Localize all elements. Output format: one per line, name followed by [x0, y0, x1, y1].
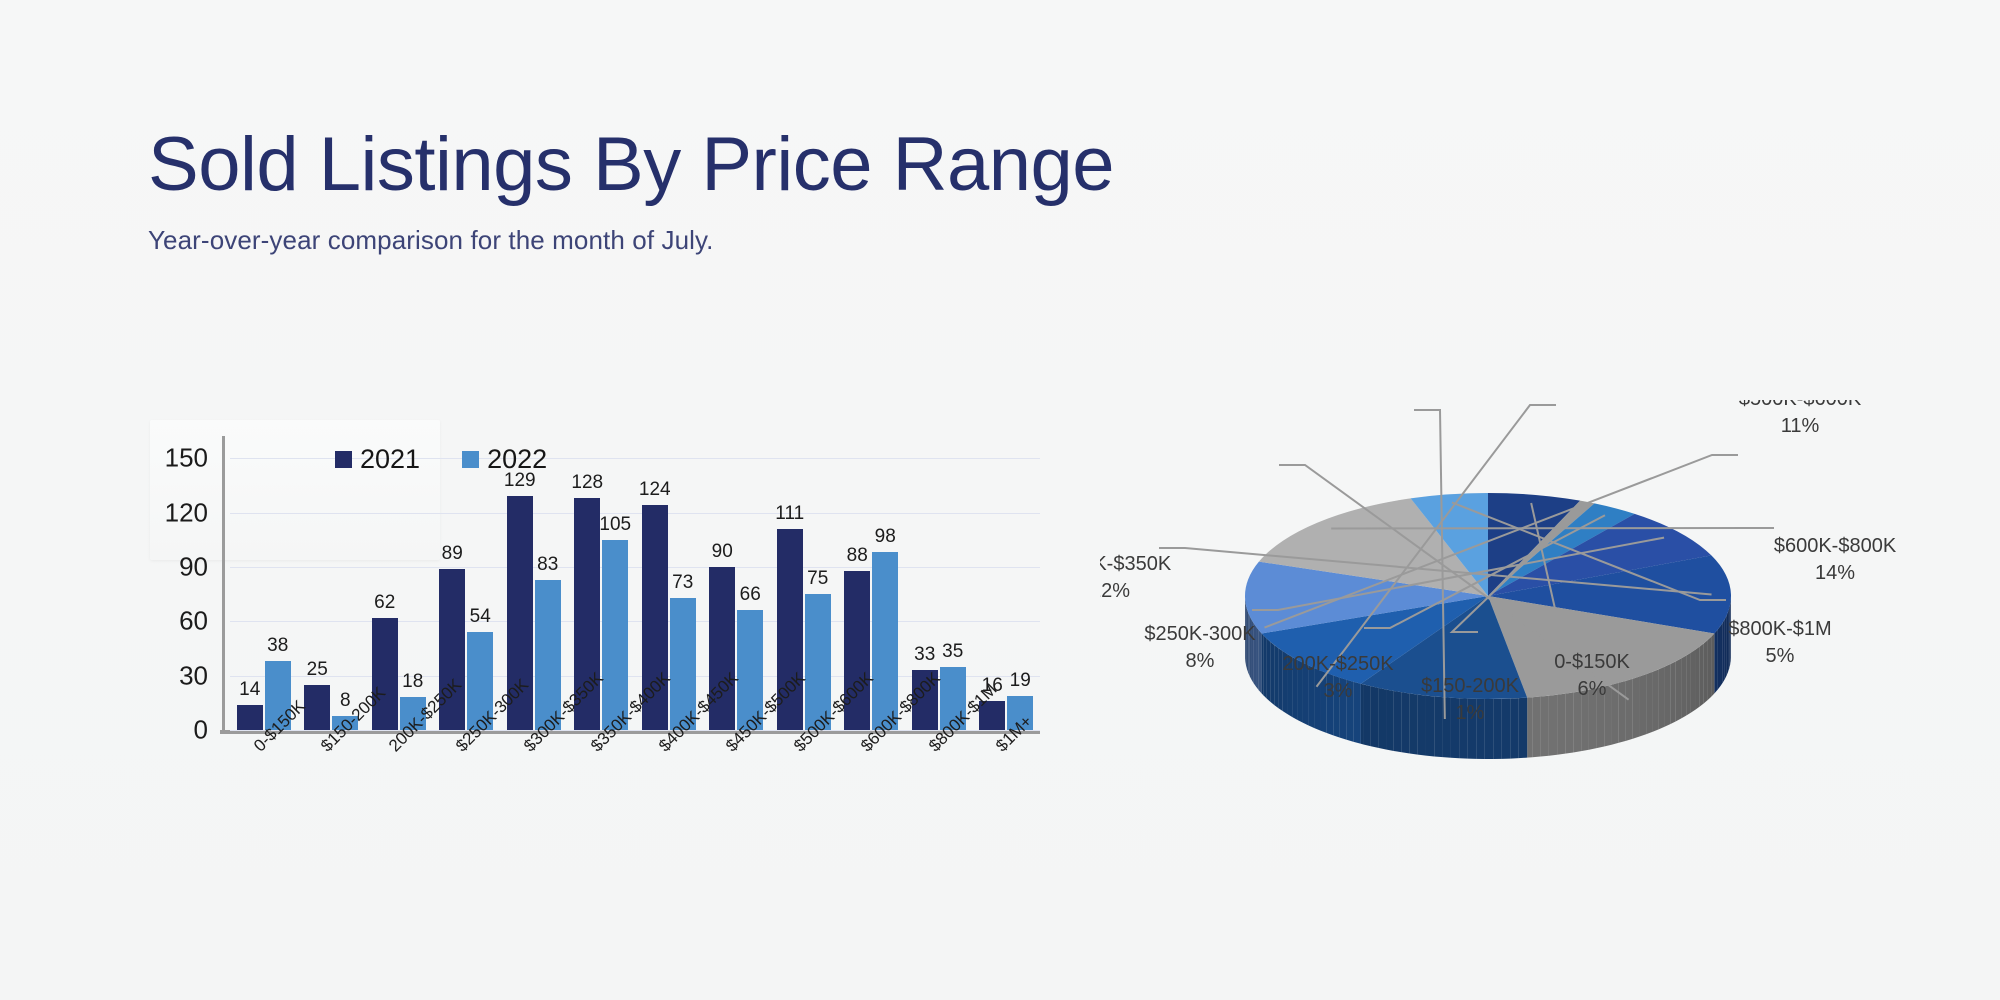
pie-slice-side	[1619, 681, 1626, 743]
bar-rect-2021[interactable]	[372, 618, 398, 730]
pie-slice-side	[1267, 638, 1271, 701]
x-axis-category: $600K-$800K	[838, 738, 906, 858]
pie-slice-side	[1418, 695, 1426, 756]
y-axis-tick-label: 120	[165, 497, 208, 528]
pie-slice-side	[1394, 691, 1402, 752]
bar-chart-legend: 2021 2022	[335, 444, 547, 475]
x-axis-category: 200K-$250K	[365, 738, 433, 858]
bar-value-label: 66	[740, 584, 761, 606]
pie-slice-side	[1695, 647, 1699, 710]
x-axis-category: $400K-$450K	[635, 738, 703, 858]
pie-slice-side	[1256, 627, 1259, 690]
pie-label-name: $250K-300K	[1144, 623, 1256, 645]
pie-slice-side	[1314, 668, 1320, 731]
legend-label-2021: 2021	[360, 444, 420, 475]
pie-slice-side	[1573, 691, 1581, 752]
y-axis-line	[222, 436, 225, 734]
pie-label-name: 200K-$250K	[1282, 653, 1394, 675]
pie-slice-side	[1402, 692, 1410, 753]
bar-group: 258	[298, 440, 366, 730]
pie-slice-side	[1386, 689, 1394, 750]
legend-swatch-square-2022	[462, 451, 479, 468]
x-axis-category: 0-$150K	[230, 738, 298, 858]
bar-2022[interactable]: 54	[467, 440, 493, 730]
bar-2022[interactable]: 105	[602, 440, 628, 730]
bar-2022[interactable]: 98	[872, 440, 898, 730]
pie-slice-side	[1700, 643, 1704, 706]
pie-slice-side	[1274, 645, 1278, 708]
pie-slice-side	[1633, 677, 1640, 739]
pie-label-percent: 1%	[1456, 702, 1485, 724]
y-axis-tick-label: 90	[179, 551, 208, 582]
pie-label-percent: 5%	[1766, 645, 1795, 667]
pie-slice-side	[1259, 630, 1262, 693]
pie-label-percent: 6%	[1578, 678, 1607, 700]
pie-slice-side	[1527, 697, 1532, 757]
pie-chart: $350K-$400K16%$400K-$450K11%$450K-$500K1…	[1100, 400, 1900, 840]
pie-slice-side	[1510, 698, 1518, 758]
pie-slice-side	[1354, 682, 1361, 744]
legend-swatch-square-2021	[335, 451, 352, 468]
pie-label-name: $300K-$350K	[1100, 553, 1172, 575]
pie-slice-side	[1659, 667, 1665, 730]
bar-2022[interactable]: 66	[737, 440, 763, 730]
y-axis-tick-label: 150	[165, 443, 208, 474]
pie-label-percent: 12%	[1100, 580, 1130, 602]
pie-slice-side	[1704, 640, 1708, 703]
page-subtitle: Year-over-year comparison for the month …	[148, 224, 1548, 256]
page-root: Sold Listings By Price Range Year-over-y…	[0, 0, 2000, 1000]
pie-chart-svg: $350K-$400K16%$400K-$450K11%$450K-$500K1…	[1100, 400, 1900, 840]
page-title: Sold Listings By Price Range	[148, 122, 1548, 208]
bar-2022[interactable]: 19	[1007, 440, 1033, 730]
bar-value-label: 54	[470, 606, 491, 628]
pie-slice-side	[1549, 695, 1557, 756]
pie-label-name: $500K-$600K	[1739, 400, 1862, 410]
bar-chart: 2021 2022 0306090120150 1438258621889541…	[150, 420, 1070, 840]
bar-value-label: 35	[942, 641, 963, 663]
bar-value-label: 18	[402, 671, 423, 693]
pie-slice-side	[1270, 642, 1274, 705]
pie-slice-side	[1410, 694, 1418, 755]
bar-value-label: 105	[599, 514, 631, 536]
bar-2022[interactable]: 38	[265, 440, 291, 730]
pie-slice-side	[1691, 650, 1696, 713]
pie-slice-side	[1714, 633, 1715, 694]
bar-2022[interactable]: 35	[940, 440, 966, 730]
pie-slice-side	[1723, 619, 1725, 682]
bar-value-label: 89	[442, 543, 463, 565]
header: Sold Listings By Price Range Year-over-y…	[148, 122, 1548, 256]
bar-2022[interactable]: 83	[535, 440, 561, 730]
pie-slice-side	[1725, 615, 1727, 679]
y-axis-tick-label: 0	[194, 715, 208, 746]
pie-label-name: $150-200K	[1421, 675, 1520, 697]
pie-slice-side	[1502, 699, 1510, 759]
x-axis-category: $350K-$400K	[568, 738, 636, 858]
pie-label-percent: 14%	[1815, 562, 1855, 584]
bar-2022[interactable]: 18	[400, 440, 426, 730]
bar-rect-2021[interactable]	[237, 705, 263, 730]
bar-value-label: 111	[775, 503, 804, 525]
pie-slice-side	[1665, 664, 1671, 727]
bar-rect-2022[interactable]	[602, 540, 628, 730]
pie-slice-side	[1361, 684, 1364, 745]
pie-slice-side	[1681, 656, 1686, 719]
pie-label-percent: 8%	[1186, 650, 1215, 672]
pie-slice-side	[1708, 637, 1712, 700]
y-axis-tick-label: 30	[179, 660, 208, 691]
pie-slice-side	[1519, 698, 1527, 759]
bar-value-label: 73	[672, 572, 693, 594]
pie-label-name: $800K-$1M	[1728, 618, 1831, 640]
pie-slice-side	[1640, 674, 1647, 736]
pie-label-percent: 11%	[1781, 415, 1820, 437]
x-axis-category: $150-200K	[298, 738, 366, 858]
pie-slice-side	[1485, 699, 1494, 759]
bar-value-label: 124	[639, 479, 671, 501]
pie-label-name: $600K-$800K	[1774, 535, 1897, 557]
pie-slice-side	[1363, 684, 1370, 746]
pie-slice-side	[1686, 653, 1691, 716]
pie-slice-side	[1711, 633, 1714, 696]
pie-slice-side	[1493, 699, 1501, 759]
bar-2022[interactable]: 75	[805, 440, 831, 730]
bar-value-label: 19	[1010, 670, 1031, 692]
x-axis-category: $250K-300K	[433, 738, 501, 858]
bar-value-label: 75	[807, 568, 828, 590]
pie-slice-side	[1670, 661, 1676, 724]
pie-label-percent: 3%	[1324, 680, 1353, 702]
bar-2022[interactable]: 73	[670, 440, 696, 730]
bar-2021[interactable]: 25	[304, 440, 330, 730]
bar-value-label: 33	[914, 644, 935, 666]
x-axis-category: $450K-$500K	[703, 738, 771, 858]
bar-value-label: 90	[712, 541, 733, 563]
pie-slice-side	[1652, 669, 1658, 731]
bar-value-label: 62	[374, 592, 395, 614]
pie-slice-side	[1426, 696, 1434, 757]
pie-slice-side	[1371, 686, 1379, 748]
bar-value-label: 83	[537, 554, 558, 576]
pie-slice-side	[1715, 629, 1718, 692]
pie-slice-side	[1646, 672, 1652, 734]
pie-label-name: 0-$150K	[1554, 651, 1630, 673]
bar-value-label: 25	[307, 659, 328, 681]
pie-slice-side	[1262, 633, 1264, 695]
pie-slice-side	[1532, 697, 1540, 758]
legend-label-2022: 2022	[487, 444, 547, 475]
x-axis-category: $800K-$1M	[905, 738, 973, 858]
x-axis-category: $300K-$350K	[500, 738, 568, 858]
bar-value-label: 88	[847, 545, 868, 567]
legend-item-2022[interactable]: 2022	[462, 444, 547, 475]
bar-2021[interactable]: 14	[237, 440, 263, 730]
pie-slice-side	[1718, 626, 1721, 689]
legend-item-2021[interactable]: 2021	[335, 444, 420, 475]
x-axis-category-labels: 0-$150K$150-200K200K-$250K$250K-300K$300…	[230, 738, 1040, 858]
pie-slice-side	[1263, 635, 1266, 698]
bar-rect-2021[interactable]	[304, 685, 330, 730]
bar-value-label: 38	[267, 635, 288, 657]
pie-slice-side	[1565, 692, 1573, 753]
bar-group: 1438	[230, 440, 298, 730]
pie-slice-side	[1720, 622, 1722, 685]
pie-slice-side	[1378, 688, 1386, 750]
pie-slice-side	[1434, 696, 1442, 757]
bar-value-label: 14	[239, 679, 260, 701]
bar-value-label: 98	[875, 526, 896, 548]
pie-slice-side	[1676, 659, 1681, 722]
x-axis-category: $500K-$600K	[770, 738, 838, 858]
pie-slice-side	[1541, 696, 1549, 757]
bar-value-label: 128	[571, 472, 603, 494]
x-axis-category: $1M+	[973, 738, 1041, 858]
bar-2022[interactable]: 8	[332, 440, 358, 730]
pie-slice-side	[1557, 694, 1565, 755]
pie-slice-side	[1626, 679, 1633, 741]
y-axis-tick-label: 60	[179, 606, 208, 637]
